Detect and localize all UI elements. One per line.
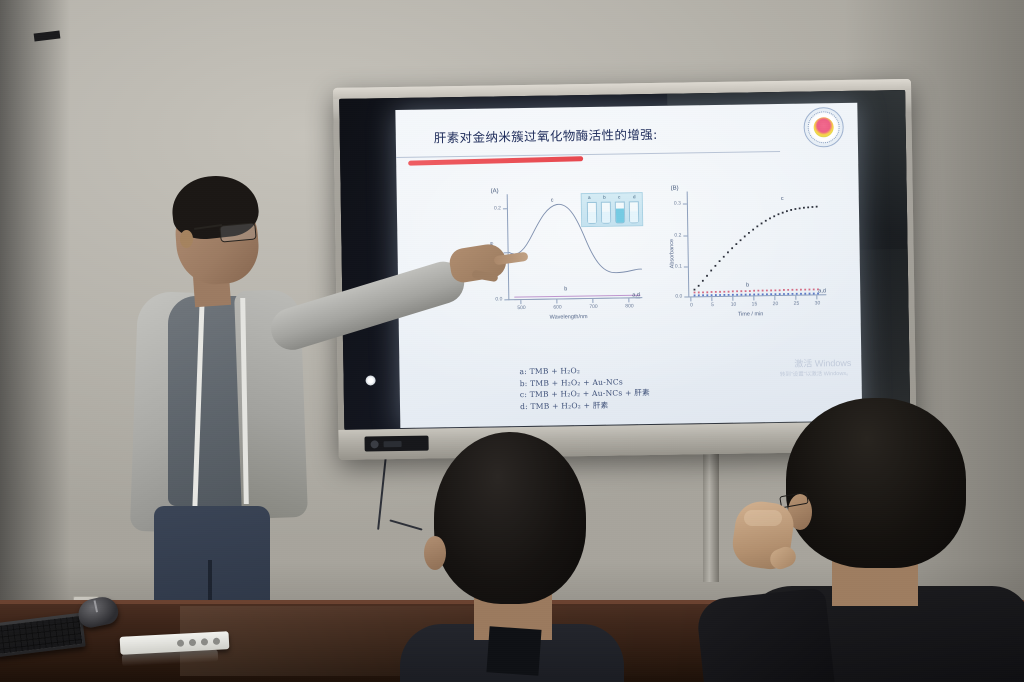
remote-button-4[interactable] [213,637,220,644]
chart-a-label-b: b [564,286,567,292]
emblem-ring [807,111,839,143]
chart-b-label-c: c [781,196,784,202]
chart-a-inset-photo: a b c d [581,192,644,227]
audience-front-hair [434,432,586,604]
legend-item-c: c: TMB + H₂O₂ + Au-NCs + 肝素 [520,387,650,401]
legend-item-d: d: TMB + H₂O₂ + 肝素 [520,399,650,413]
chart-a-label-c: c [551,198,554,204]
audience-member-right [714,398,1024,682]
chart-b-label-b: b [746,282,749,288]
inset-cuvette-a [587,202,597,224]
chart-b-label-ad: a,d [818,288,826,294]
mouse-button-split[interactable] [94,600,98,612]
power-button-icon[interactable] [371,440,379,448]
audience-right-knuckles [744,510,782,526]
inset-cuvette-labels: a b c d [582,194,642,200]
chart-b-plot [669,185,831,319]
chart-a-label-ad: a,d [632,292,640,298]
audience-front-collar [486,626,541,676]
chart-panel-b: (B) 0.3 0.2 0.1 0.0 0 5 10 15 20 25 30 [669,185,831,319]
inset-cuvette-d [629,201,639,223]
slide-legend: a: TMB + H₂O₂ b: TMB + H₂O₂ + Au-NCs c: … [519,364,650,412]
audience-member-front [418,432,604,682]
watermark-line-2: 转到"设置"以激活 Windows。 [780,369,852,378]
inset-label-d: d [633,194,636,199]
remote-button-2[interactable] [189,638,196,645]
display-screen[interactable]: 肝素对金纳米簇过氧化物酶活性的增强: (A) 0.2 0.1 [339,90,910,430]
screenshot-scene: 肝素对金纳米簇过氧化物酶活性的增强: (A) 0.2 0.1 [0,0,1024,682]
presenter-glasses [219,222,256,242]
windows-activation-watermark: 激活 Windows 转到"设置"以激活 Windows。 [780,356,852,378]
inset-label-a: a [588,195,591,200]
screen-dark-area: 肝素对金纳米簇过氧化物酶活性的增强: (A) 0.2 0.1 [339,90,910,430]
presenter-ear [180,230,193,248]
inset-cuvette-c [615,201,625,223]
keyboard-keys[interactable] [0,616,82,654]
audience-right-arm [695,587,834,682]
watermark-line-1: 激活 Windows [780,356,852,370]
inset-cuvette-b [601,202,611,224]
inset-label-c: c [618,194,620,199]
inset-label-b: b [603,195,606,200]
presenter [120,168,370,628]
remote-button-1[interactable] [177,639,184,646]
audience-front-ear [424,536,446,570]
slide-title: 肝素对金纳米簇过氧化物酶活性的增强: [434,124,658,147]
remote-button-3[interactable] [201,638,208,645]
audience-right-hair [786,398,966,568]
control-slot[interactable] [384,440,402,446]
